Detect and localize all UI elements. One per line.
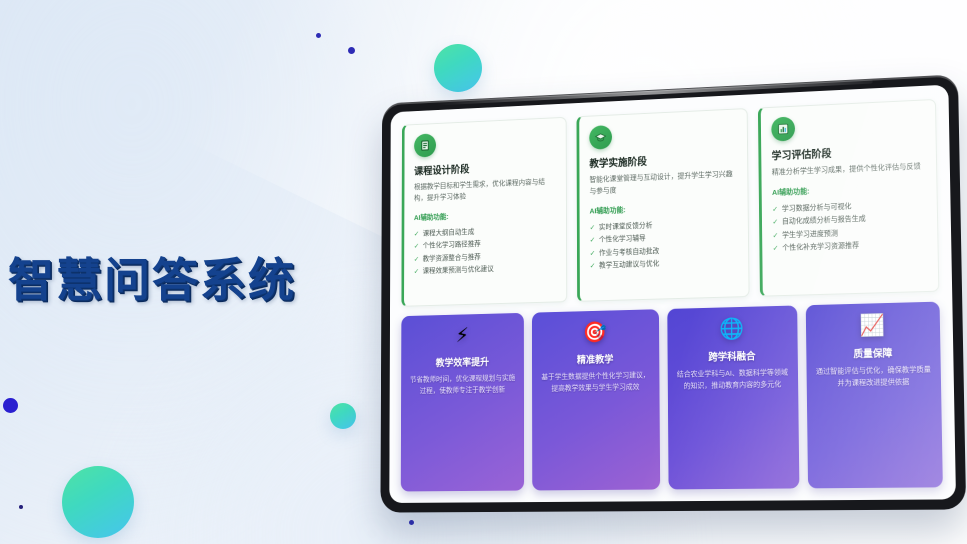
stage-card-course-design[interactable]: 课程设计阶段 根据教学目标和学生需求，优化课程内容与结构，提升学习体验 AI辅助…	[401, 117, 567, 307]
benefit-title: 跨学科融合	[708, 348, 755, 364]
features-heading: AI辅助功能:	[414, 207, 556, 223]
benefit-title: 教学效率提升	[436, 354, 489, 369]
benefit-card-row: ⚡ 教学效率提升 节省教师时间，优化课程规划与实施过程，使教师专注于教学创新 🎯…	[401, 302, 943, 492]
benefit-card-interdisciplinary[interactable]: 🌐 跨学科融合 结合农业学科与AI、数据科学等领域的知识，推动教育内容的多元化	[667, 305, 799, 489]
bar-chart-icon	[771, 116, 795, 141]
features-heading: AI辅助功能:	[772, 181, 926, 198]
decorative-dot	[316, 33, 321, 38]
check-icon: ✓	[590, 221, 596, 234]
check-icon: ✓	[414, 265, 419, 278]
feature-label: 课程效果预测与优化建议	[423, 262, 494, 277]
stage-description: 智能化课堂管理与互动设计，提升学生学习兴趣与参与度	[589, 168, 737, 197]
decorative-sphere-bottom-left	[62, 466, 134, 538]
graduation-cap-icon	[589, 125, 612, 150]
stage-card-teaching-implementation[interactable]: 教学实施阶段 智能化课堂管理与互动设计，提升学生学习兴趣与参与度 AI辅助功能:…	[577, 108, 750, 302]
stage-card-learning-assessment[interactable]: 学习评估阶段 精准分析学生学习成果，提供个性化评估与反馈 AI辅助功能: ✓学习…	[758, 99, 939, 297]
check-icon: ✓	[414, 240, 419, 253]
features-heading: AI辅助功能:	[590, 200, 738, 216]
benefit-description: 节省教师时间，优化课程规划与实施过程，使教师专注于教学创新	[408, 372, 517, 397]
check-icon: ✓	[772, 228, 778, 241]
globe-icon: 🌐	[719, 319, 744, 340]
stage-description: 精准分析学生学习成果，提供个性化评估与反馈	[772, 160, 926, 178]
features-list: ✓学习数据分析与可视化 ✓自动化成绩分析与报告生成 ✓学生学习进度预测 ✓个性化…	[772, 197, 927, 255]
decorative-dot	[409, 520, 414, 525]
check-icon: ✓	[414, 227, 419, 240]
benefit-description: 结合农业学科与AI、数据科学等领域的知识，推动教育内容的多元化	[675, 367, 791, 393]
monitor: 课程设计阶段 根据教学目标和学生需求，优化课程内容与结构，提升学习体验 AI辅助…	[380, 74, 966, 512]
lightning-bolt-icon: ⚡	[456, 326, 469, 346]
check-icon: ✓	[590, 234, 596, 247]
check-icon: ✓	[773, 241, 779, 254]
benefit-description: 基于学生数据提供个性化学习建议，提高教学效果与学生学习成效	[540, 369, 652, 394]
benefit-description: 通过智能评估与优化，确保教学质量并为课程改进提供依据	[814, 364, 933, 390]
decorative-sphere-small	[330, 403, 356, 429]
book-icon	[414, 133, 436, 157]
check-icon: ✓	[590, 259, 596, 272]
page-title: 智慧问答系统	[8, 244, 296, 310]
features-list: ✓课程大纲自动生成 ✓个性化学习路径推荐 ✓教学资源整合与推荐 ✓课程效果预测与…	[414, 222, 556, 277]
decorative-sphere-top	[434, 44, 482, 92]
check-icon: ✓	[772, 215, 778, 228]
stage-title: 学习评估阶段	[772, 142, 926, 163]
check-icon: ✓	[590, 246, 596, 259]
feature-label: 个性化补充学习资源推荐	[782, 238, 859, 254]
stage-description: 根据教学目标和学生需求，优化课程内容与结构，提升学习体验	[414, 176, 556, 204]
stage-card-row: 课程设计阶段 根据教学目标和学生需求，优化课程内容与结构，提升学习体验 AI辅助…	[401, 99, 939, 307]
feature-label: 教学互动建议与优化	[599, 257, 659, 272]
benefit-card-precision-teaching[interactable]: 🎯 精准教学 基于学生数据提供个性化学习建议，提高教学效果与学生学习成效	[532, 309, 660, 490]
chart-increasing-icon: 📈	[860, 315, 886, 336]
dart-target-icon: 🎯	[583, 322, 607, 343]
features-list: ✓实时课堂反馈分析 ✓个性化学习辅导 ✓作业与考核自动批改 ✓教学互动建议与优化	[590, 216, 738, 272]
check-icon: ✓	[414, 252, 419, 265]
decorative-dot	[348, 47, 355, 54]
decorative-dot	[3, 398, 18, 413]
benefit-title: 质量保障	[853, 345, 892, 361]
benefit-title: 精准教学	[577, 351, 614, 366]
screen-content: 课程设计阶段 根据教学目标和学生需求，优化课程内容与结构，提升学习体验 AI辅助…	[389, 85, 956, 503]
decorative-dot	[19, 505, 23, 509]
stage-title: 教学实施阶段	[589, 150, 737, 171]
benefit-card-efficiency[interactable]: ⚡ 教学效率提升 节省教师时间，优化课程规划与实施过程，使教师专注于教学创新	[401, 313, 525, 492]
check-icon: ✓	[772, 202, 778, 215]
benefit-card-quality-assurance[interactable]: 📈 质量保障 通过智能评估与优化，确保教学质量并为课程改进提供依据	[806, 302, 943, 489]
stage-title: 课程设计阶段	[414, 158, 556, 178]
